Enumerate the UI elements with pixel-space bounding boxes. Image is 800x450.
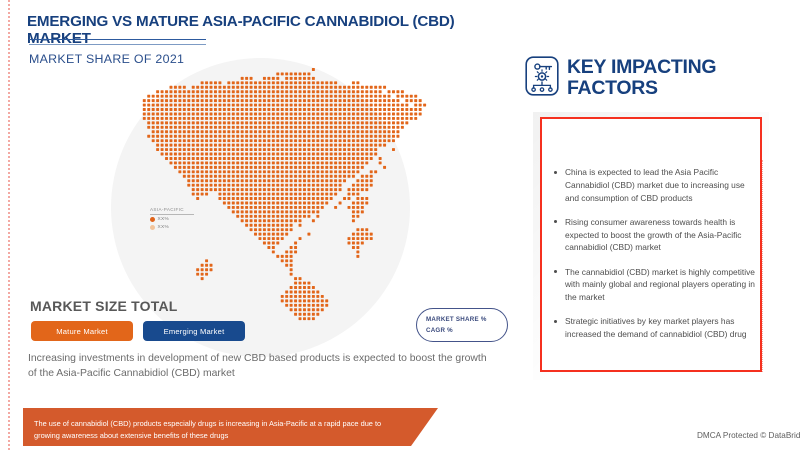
map-legend: ASIA-PACIFIC XX% XX% xyxy=(150,207,212,230)
title-divider-secondary xyxy=(29,44,206,45)
list-item: Rising consumer awareness towards health… xyxy=(552,216,758,254)
list-item-text: Rising consumer awareness towards health… xyxy=(565,217,741,253)
market-share-cagr-callout: MARKET SHARE % CAGR % xyxy=(416,308,508,342)
bottom-banner-text: The use of cannabidiol (CBD) products es… xyxy=(34,418,406,442)
market-size-paragraph: Increasing investments in development of… xyxy=(28,352,490,382)
key-impacting-factors-title: KEY IMPACTING FACTORS xyxy=(567,57,777,99)
list-item: Strategic initiatives by key market play… xyxy=(552,315,758,341)
callout-cagr: CAGR % xyxy=(426,325,507,336)
list-item-text: China is expected to lead the Asia Pacif… xyxy=(565,167,745,203)
list-item: China is expected to lead the Asia Pacif… xyxy=(552,166,758,204)
callout-market-share: MARKET SHARE % xyxy=(426,314,507,325)
footer-credit: DMCA Protected © DataBridge xyxy=(697,431,800,440)
map-legend-title: ASIA-PACIFIC xyxy=(150,207,194,215)
map-legend-value: XX% xyxy=(158,217,170,222)
key-factors-bullet-list: China is expected to lead the Asia Pacif… xyxy=(552,166,758,352)
left-dashed-rail xyxy=(8,0,10,450)
legend-swatch-icon xyxy=(150,217,155,222)
title-divider-primary xyxy=(29,39,206,40)
bullet-dot-icon xyxy=(554,320,557,323)
bullet-dot-icon xyxy=(554,270,557,273)
list-item-text: The cannabidiol (CBD) market is highly c… xyxy=(565,267,755,303)
bullet-dot-icon xyxy=(554,171,557,174)
bullet-dot-icon xyxy=(554,220,557,223)
key-gear-network-icon xyxy=(525,56,559,96)
legend-swatch-icon xyxy=(150,225,155,230)
list-item-text: Strategic initiatives by key market play… xyxy=(565,316,747,339)
map-legend-item: XX% xyxy=(150,217,212,222)
list-item: The cannabidiol (CBD) market is highly c… xyxy=(552,266,758,304)
key-factors-dotted-right xyxy=(762,160,763,372)
infographic-canvas: EMERGING VS MATURE ASIA-PACIFIC CANNABID… xyxy=(0,0,800,450)
market-size-heading: MARKET SIZE TOTAL xyxy=(30,298,178,314)
market-type-pills: Mature Market Emerging Market xyxy=(31,321,245,341)
pill-mature-market[interactable]: Mature Market xyxy=(31,321,133,341)
map-legend-value: XX% xyxy=(158,225,170,230)
pill-emerging-market[interactable]: Emerging Market xyxy=(143,321,245,341)
map-legend-item: XX% xyxy=(150,225,212,230)
